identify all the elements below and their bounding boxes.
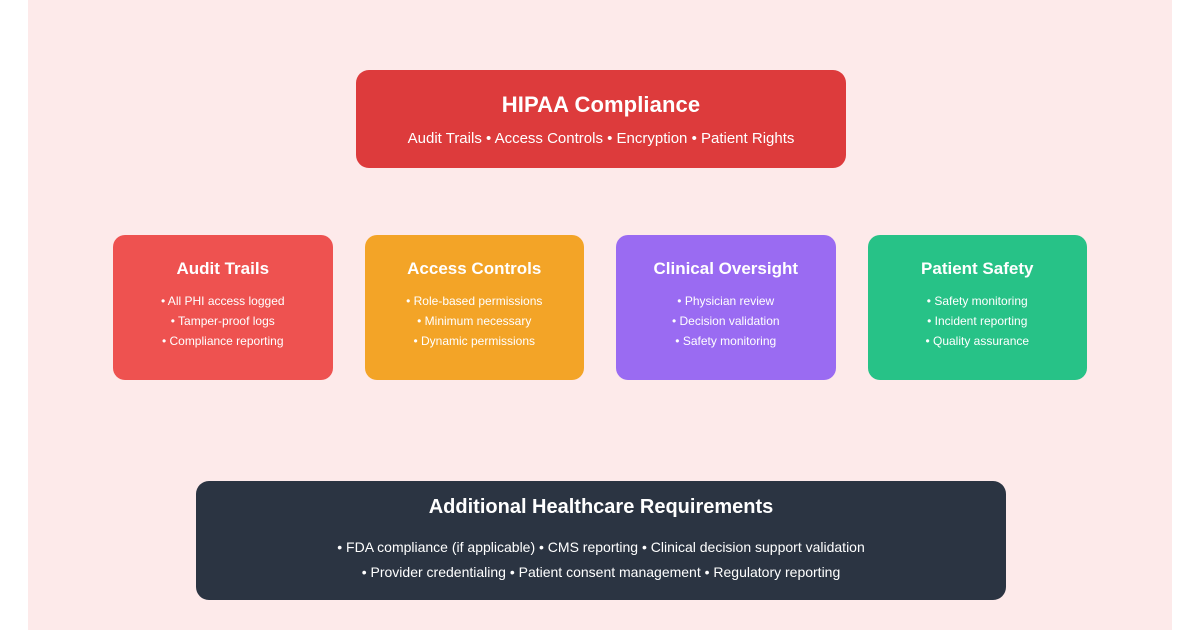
pillar-card-row: Audit Trails • All PHI access logged • T…	[113, 235, 1087, 380]
pillar-card-access-controls: Access Controls • Role-based permissions…	[365, 235, 585, 380]
pillar-title: Patient Safety	[921, 259, 1033, 279]
pillar-list-item: • Physician review	[672, 291, 780, 311]
footer-line: • FDA compliance (if applicable) • CMS r…	[337, 535, 865, 560]
pillar-list-item: • All PHI access logged	[161, 291, 285, 311]
pillar-item-list: • Physician review • Decision validation…	[672, 291, 780, 351]
footer-line-group: • FDA compliance (if applicable) • CMS r…	[337, 535, 865, 585]
additional-requirements-panel: Additional Healthcare Requirements • FDA…	[196, 481, 1006, 600]
footer-title: Additional Healthcare Requirements	[429, 496, 774, 519]
pillar-list-item: • Minimum necessary	[406, 311, 542, 331]
diagram-canvas: HIPAA Compliance Audit Trails • Access C…	[28, 0, 1172, 630]
pillar-title: Audit Trails	[176, 259, 269, 279]
banner-subtitle: Audit Trails • Access Controls • Encrypt…	[408, 130, 795, 147]
banner-title: HIPAA Compliance	[502, 92, 700, 118]
hipaa-compliance-banner: HIPAA Compliance Audit Trails • Access C…	[356, 70, 846, 168]
pillar-card-patient-safety: Patient Safety • Safety monitoring • Inc…	[868, 235, 1088, 380]
pillar-list-item: • Incident reporting	[925, 311, 1029, 331]
pillar-title: Clinical Oversight	[653, 259, 798, 279]
pillar-list-item: • Decision validation	[672, 311, 780, 331]
pillar-list-item: • Compliance reporting	[161, 331, 285, 351]
pillar-list-item: • Quality assurance	[925, 331, 1029, 351]
footer-line: • Provider credentialing • Patient conse…	[337, 560, 865, 585]
pillar-list-item: • Safety monitoring	[925, 291, 1029, 311]
pillar-title: Access Controls	[407, 259, 541, 279]
pillar-list-item: • Tamper-proof logs	[161, 311, 285, 331]
pillar-list-item: • Dynamic permissions	[406, 331, 542, 351]
pillar-card-clinical-oversight: Clinical Oversight • Physician review • …	[616, 235, 836, 380]
pillar-item-list: • Safety monitoring • Incident reporting…	[925, 291, 1029, 351]
pillar-list-item: • Safety monitoring	[672, 331, 780, 351]
pillar-item-list: • Role-based permissions • Minimum neces…	[406, 291, 542, 351]
pillar-card-audit-trails: Audit Trails • All PHI access logged • T…	[113, 235, 333, 380]
pillar-item-list: • All PHI access logged • Tamper-proof l…	[161, 291, 285, 351]
pillar-list-item: • Role-based permissions	[406, 291, 542, 311]
